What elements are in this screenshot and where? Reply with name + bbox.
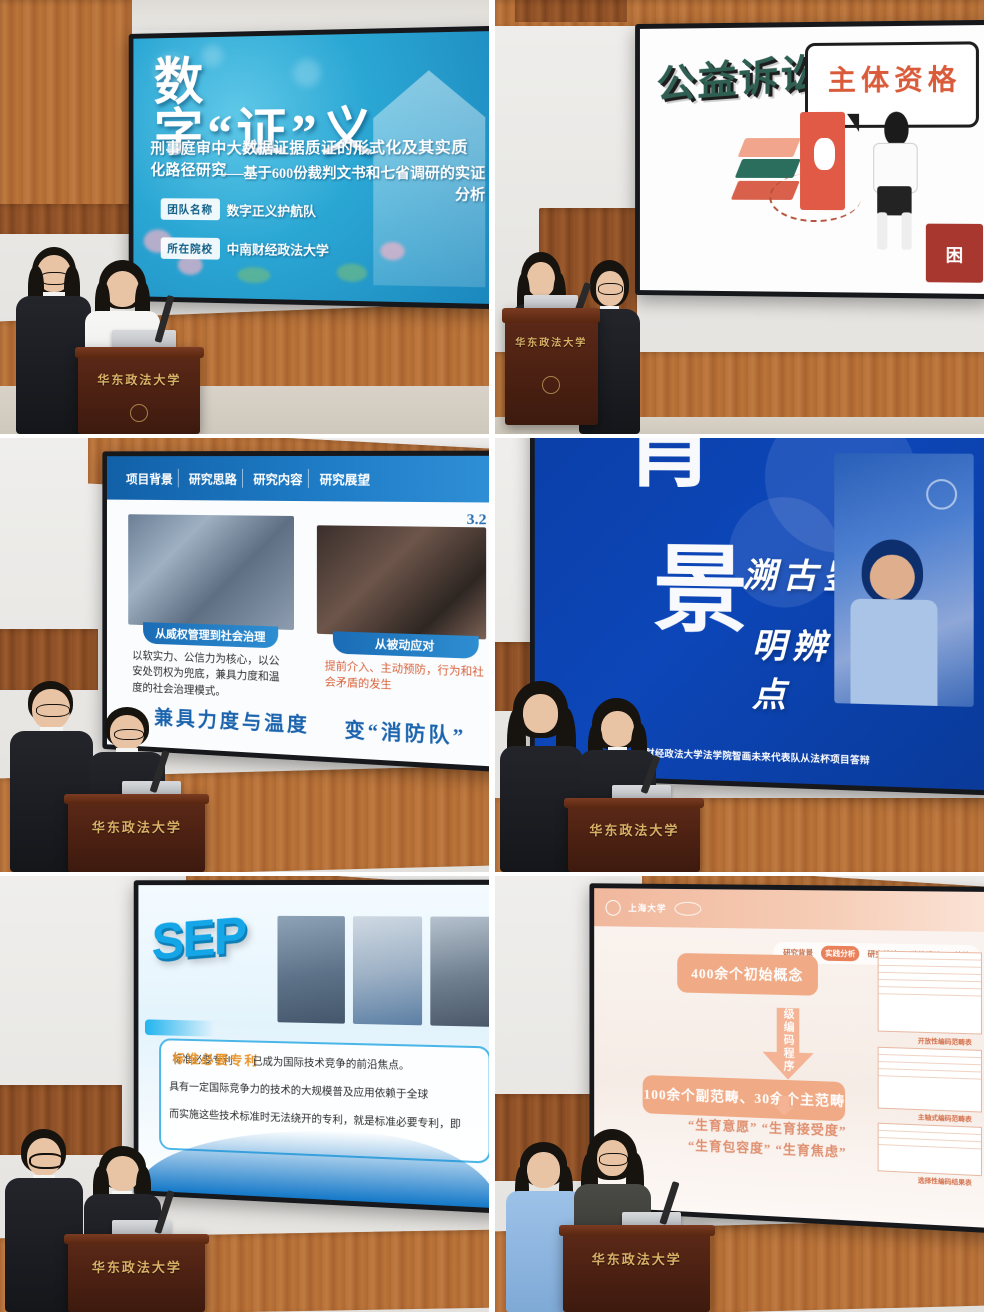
podium-5: 华东政法大学 [68,1234,205,1312]
podium-label-4: 华东政法大学 [568,820,700,839]
child-leg-left [877,212,888,249]
slide-5-key-term-display: 标准必要专利 [173,1048,260,1073]
slide-6-arrow-label: 级编码程序 [780,1007,796,1072]
slide-5: SEP 标准必要专利 标准必要专利 已成为国际技术竞争的前沿焦点。 具有一定国际… [139,885,489,1208]
podium-6: 华东政法大学 [563,1225,710,1312]
photo-meeting [129,514,294,630]
podium-1: 华东政法大学 [78,347,200,434]
slide-2: 公益诉讼 主体资格 困 [640,25,984,294]
photo-supreme-court [353,917,423,1026]
projection-screen-5: SEP 标准必要专利 标准必要专利 已成为国际技术竞争的前沿焦点。 具有一定国际… [134,880,489,1214]
podium-top-4 [564,798,704,808]
slide-3-left-body: 以软实力、公信力为核心，以公安处罚权为兜底，兼具力度和温度的社会治理模式。 [132,648,289,703]
podium-top-5 [64,1234,209,1244]
nav-tab-0[interactable]: 项目背景 [121,469,178,488]
coding-table-1-label: 开放性编码范畴表 [918,1034,972,1046]
slide-6: 上海大学 研究背景 实践分析 研究结论 政策建议 总结 400余个初始概念 级编… [594,888,984,1228]
slide-4-big-char-1: 背 [623,438,717,490]
collage-panel-1: 数字“证”义 刑事庭审中大数据证据质证的形式化及其实质化路径研究 ——基于600… [0,0,489,434]
collage-panel-2: 公益诉讼 主体资格 困 [495,0,984,434]
wood-trim-left [0,204,132,234]
photo-court-building [277,917,345,1025]
school-tag: 所在院校 [161,238,220,260]
decorative-streak [145,1020,214,1037]
podium-emblem-2 [542,376,560,394]
nav-tab-1[interactable]: 研究思路 [184,469,243,488]
team-name-value: 数字正义护航队 [227,201,316,221]
coding-table-2-label: 主轴式编码范畴表 [918,1111,972,1123]
podium-label-6: 华东政法大学 [563,1249,710,1268]
wood-panel-left [0,0,132,208]
coding-table-2 [878,1046,982,1112]
podium-emblem-1 [130,404,148,422]
slide-6-step-1: 400余个初始概念 [677,953,817,995]
book-stack-top [738,138,800,157]
slide-2-sign: 困 [926,223,983,282]
child-leg-right [901,212,912,249]
dashed-path [769,172,861,222]
podium-top-3 [64,794,209,804]
collage-panel-4: 背 景 溯古鉴今 明辨研究基点 财经政法大学法学院智画未来代表队从法杯项目答辩 [495,438,984,872]
nav6-tab-1[interactable]: 实践分析 [821,946,859,962]
podium-label-1: 华东政法大学 [78,371,200,388]
video-inset [834,454,974,708]
child-shorts [877,186,912,215]
slide-4-big-char-2: 景 [654,547,749,636]
book-stack-mid [735,159,801,178]
collage-panel-6: 上海大学 研究背景 实践分析 研究结论 政策建议 总结 400余个初始概念 级编… [495,876,984,1312]
projection-screen-2: 公益诉讼 主体资格 困 [635,20,984,299]
podium-top-6 [559,1225,714,1236]
child-head [884,111,909,146]
slide-3-left-big: 兼具力度与温度 [154,701,310,738]
collage-panel-3: 项目背景 研究思路 研究内容 研究展望 3.2 从威权管理到社会治理 从被动应对… [0,438,489,872]
slide-5-logo: SEP [152,906,246,973]
podium-top-1 [75,347,205,358]
hand-icon [814,138,835,170]
slide-1-team-row: 团队名称 数字正义护航队 [161,199,316,222]
nav-tab-3[interactable]: 研究展望 [314,469,375,488]
photo-collage: 数字“证”义 刑事庭审中大数据证据质证的形式化及其实质化路径研究 ——基于600… [0,0,984,1312]
photo-church-spire [430,917,489,1027]
slide-6-terms: “生育意愿” “生育接受度” “生育包容度” “生育焦虑” [662,1114,874,1165]
slide-2-bubble-text: 主体资格 [817,57,972,98]
slide-3-right-caption: 从被动应对 [333,631,479,659]
podium-label-2: 华东政法大学 [505,334,598,349]
coding-table-3 [878,1122,982,1175]
podium-2: 华东政法大学 [505,308,598,425]
institution-emblem [926,479,957,510]
slide-3-left-caption: 从威权管理到社会治理 [143,622,278,648]
coding-table-3-label: 选择性编码结果表 [918,1174,972,1187]
podium-label-5: 华东政法大学 [68,1257,205,1276]
coding-table-1 [878,950,982,1034]
school-value: 中南财经政法大学 [227,240,329,260]
slide-6-university-logo: 上海大学 [628,901,666,914]
slide-6-topbar: 上海大学 [594,888,984,932]
slide-3-right-body: 提前介入、主动预防，行为和社会矛盾的发生 [325,658,487,698]
infinity-icon [674,901,701,915]
university-seal-icon [605,899,620,915]
speech-bubble-tail [847,114,859,132]
podium-label-3: 华东政法大学 [68,817,205,836]
photo-exhibition [317,525,487,639]
slide-3-right-big: 变“消防队” [344,713,466,749]
projection-screen-1: 数字“证”义 刑事庭审中大数据证据质证的形式化及其实质化路径研究 ——基于600… [129,26,489,309]
team-name-tag: 团队名称 [161,199,220,221]
slide-2-title: 公益诉讼 [657,39,823,110]
slide-1-school-row: 所在院校 中南财经政法大学 [161,238,329,262]
nav-tab-2[interactable]: 研究内容 [248,469,308,488]
wood-panel-upper-left-2 [515,0,627,22]
podium-3: 华东政法大学 [68,794,205,872]
collage-panel-5: SEP 标准必要专利 标准必要专利 已成为国际技术竞争的前沿焦点。 具有一定国际… [0,876,489,1312]
podium-4: 华东政法大学 [568,798,700,872]
podium-top-2 [502,308,600,323]
slide-3-navbar: 项目背景 研究思路 研究内容 研究展望 [107,456,489,503]
slide-1: 数字“证”义 刑事庭审中大数据证据质证的形式化及其实质化路径研究 ——基于600… [134,31,489,304]
